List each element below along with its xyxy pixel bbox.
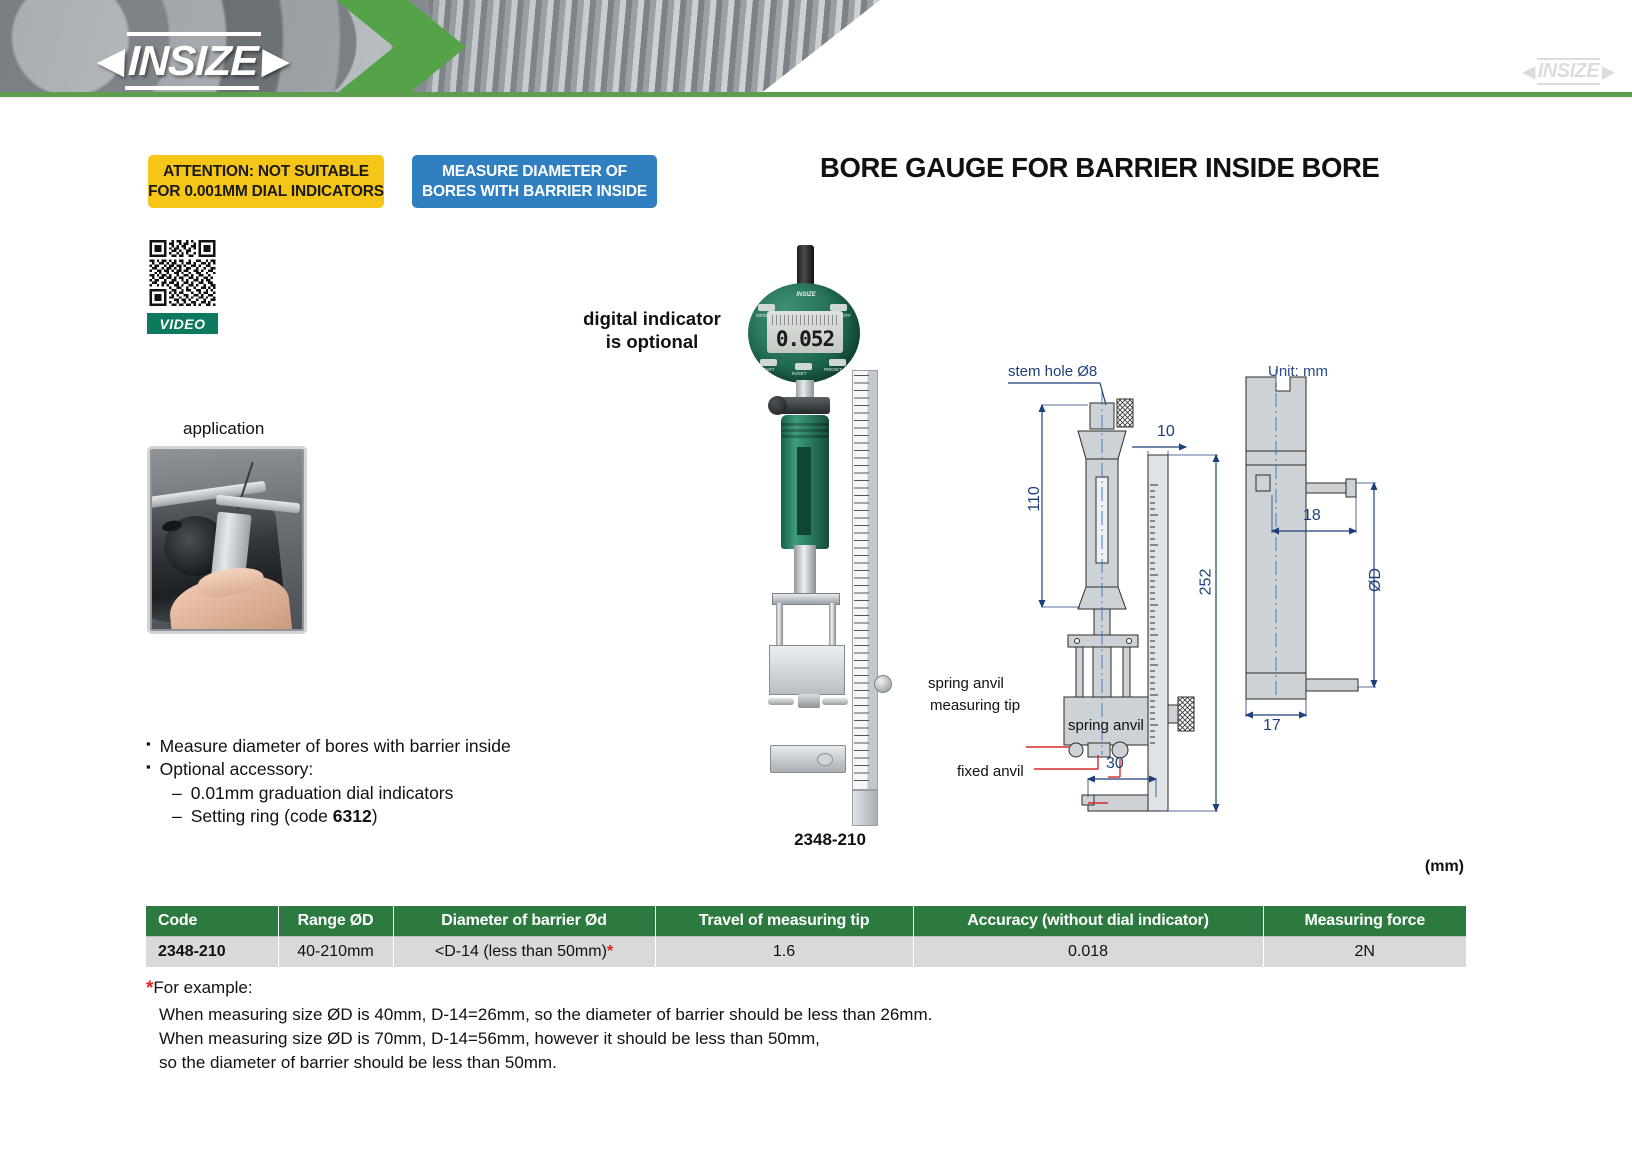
grip-ring <box>781 429 829 432</box>
stem-clamp-knob[interactable] <box>768 396 787 415</box>
indicator-button-start[interactable] <box>760 359 777 366</box>
footnote-line-3: so the diameter of barrier should be les… <box>146 1051 1246 1075</box>
dash-icon: – <box>172 782 182 805</box>
foot-hole <box>817 753 833 766</box>
measuring-head-block <box>769 645 845 695</box>
feature-subitem-2: – Setting ring (code 6312) <box>146 805 666 828</box>
grip-product-label <box>797 447 811 535</box>
dim-10-label: 10 <box>1157 423 1175 441</box>
measuring-tip <box>798 694 820 708</box>
technical-drawing: stem hole Ø8 110 10 252 30 18 ØD 17 spri… <box>960 355 1390 825</box>
spring-anvil-left <box>768 698 794 705</box>
application-photo-inner <box>152 451 302 629</box>
product-code-caption: 2348-210 <box>740 830 920 850</box>
table-row: 2348-210 40-210mm <D-14 (less than 50mm)… <box>146 937 1466 968</box>
fixed-anvil-foot <box>770 745 846 773</box>
table-unit-note: (mm) <box>1425 858 1464 876</box>
indicator-key-preset-label: PRESET <box>824 367 842 372</box>
table-header-row: Code Range ØD Diameter of barrier Ød Tra… <box>146 906 1466 937</box>
bullet-square-icon: ▪ <box>146 758 151 777</box>
cell-accuracy: 0.018 <box>913 937 1263 968</box>
watermark-arrow-right-icon: ▶ <box>1602 62 1614 82</box>
watermark-wordmark: INSIZE <box>1537 58 1600 85</box>
attention-badge-line1: ATTENTION: NOT SUITABLE <box>163 162 369 181</box>
footnote-lead-line: *For example: <box>146 976 1246 1003</box>
anvil-group <box>772 692 844 718</box>
datasheet-page: ◀ INSIZE ▶ ◀ INSIZE ▶ ATTENTION: NOT SUI… <box>0 0 1632 1155</box>
fixed-anvil-label: fixed anvil <box>957 763 1024 780</box>
logo-arrow-right-icon: ▶ <box>262 44 288 78</box>
table-header-code: Code <box>146 906 278 937</box>
cell-range: 40-210mm <box>278 937 393 968</box>
dim-30-label: 30 <box>1106 755 1124 773</box>
feature-subitem-1: – 0.01mm graduation dial indicators <box>146 782 666 805</box>
table-header-range: Range ØD <box>278 906 393 937</box>
dim-od-label: ØD <box>1367 568 1385 592</box>
column-base-rail <box>852 790 878 826</box>
column-scale-ticks <box>854 375 869 787</box>
dim-18-label: 18 <box>1303 507 1321 525</box>
stem-hole-label: stem hole Ø8 <box>1008 363 1097 380</box>
digital-indicator-head: INSIZE ORIGIN/ZERO ON/OFF START IN/SET P… <box>748 283 860 383</box>
table-header-travel: Travel of measuring tip <box>655 906 913 937</box>
grip-ring <box>781 423 829 426</box>
lcd-analog-bargraph <box>772 315 838 325</box>
cell-barrier-text: <D-14 (less than 50mm) <box>435 943 607 960</box>
logo-arrow-left-icon: ◀ <box>97 44 123 78</box>
indicator-button-inset[interactable] <box>795 363 812 370</box>
insize-watermark-logo: ◀ INSIZE ▶ <box>1523 58 1614 85</box>
indicator-button-origin[interactable] <box>758 304 775 311</box>
measure-badge-line2: BORES WITH BARRIER INSIDE <box>422 182 647 201</box>
indicator-brand-label: INSIZE <box>780 292 832 300</box>
dim-17-label: 17 <box>1263 717 1281 735</box>
footnote-block: *For example: When measuring size ØD is … <box>146 976 1246 1075</box>
measuring-tip-label: measuring tip <box>930 697 1020 714</box>
cell-travel: 1.6 <box>655 937 913 968</box>
spring-anvil-right <box>822 698 848 705</box>
feature-subitem-2-label: Setting ring (code 6312) <box>191 805 378 828</box>
digital-indicator-note: digital indicator is optional <box>572 307 732 353</box>
application-photo <box>147 446 307 634</box>
lcd-reading-value: 0.052 <box>776 329 834 353</box>
table-header-accuracy: Accuracy (without dial indicator) <box>913 906 1263 937</box>
guide-post <box>829 603 836 647</box>
dim-252-label: 252 <box>1197 569 1215 596</box>
table-header-barrier: Diameter of barrier Ød <box>393 906 655 937</box>
digital-note-line2: is optional <box>572 330 732 353</box>
spring-anvil-label-2: spring anvil <box>1068 717 1144 734</box>
setting-ring-suffix: ) <box>372 806 378 826</box>
table-header-force: Measuring force <box>1263 906 1466 937</box>
footnote-lead: For example: <box>153 978 252 997</box>
logo-wordmark: INSIZE <box>125 32 260 90</box>
cell-barrier-asterisk: * <box>607 943 613 960</box>
feature-item-2: ▪ Optional accessory: <box>146 758 666 781</box>
video-qr-block[interactable]: VIDEO <box>147 233 218 334</box>
feature-subitem-1-label: 0.01mm graduation dial indicators <box>191 782 454 805</box>
grip-ring <box>781 435 829 438</box>
qr-code-icon[interactable] <box>147 233 218 313</box>
indicator-key-start-label: START <box>760 367 774 372</box>
video-badge-label[interactable]: VIDEO <box>147 313 218 334</box>
specification-table: Code Range ØD Diameter of barrier Ød Tra… <box>146 906 1466 967</box>
application-label: application <box>183 419 264 439</box>
feature-item-2-label: Optional accessory: <box>160 758 314 781</box>
dim-110-label: 110 <box>1026 486 1044 512</box>
page-title: BORE GAUGE FOR BARRIER INSIDE BORE <box>820 152 1520 184</box>
footnote-line-1: When measuring size ØD is 40mm, D-14=26m… <box>146 1003 1246 1027</box>
indicator-button-preset[interactable] <box>829 359 846 366</box>
indicator-lcd-screen: 0.052 <box>767 311 843 353</box>
product-photo: INSIZE ORIGIN/ZERO ON/OFF START IN/SET P… <box>740 245 920 805</box>
bullet-square-icon: ▪ <box>146 735 151 754</box>
spring-anvil-label-1: spring anvil <box>928 675 1004 692</box>
dash-icon: – <box>172 805 182 828</box>
page-header: ◀ INSIZE ▶ ◀ INSIZE ▶ <box>0 0 1632 97</box>
watermark-arrow-left-icon: ◀ <box>1523 62 1535 82</box>
setting-ring-prefix: Setting ring (code <box>191 806 333 826</box>
column-lock-knob[interactable] <box>874 675 892 693</box>
drawing-svg <box>960 355 1390 825</box>
guide-post <box>776 603 783 647</box>
indicator-key-inset-label: IN/SET <box>792 371 807 376</box>
cell-force: 2N <box>1263 937 1466 968</box>
feature-list: ▪ Measure diameter of bores with barrier… <box>146 735 666 829</box>
measure-badge-line1: MEASURE DIAMETER OF <box>442 162 627 181</box>
feature-item-1-label: Measure diameter of bores with barrier i… <box>160 735 511 758</box>
header-shadow-divider <box>0 97 1632 99</box>
cell-code: 2348-210 <box>146 937 278 968</box>
attention-badge-line2: FOR 0.001MM DIAL INDICATORS <box>148 182 384 201</box>
footnote-line-2: When measuring size ØD is 70mm, D-14=56m… <box>146 1027 1246 1051</box>
measure-badge: MEASURE DIAMETER OF BORES WITH BARRIER I… <box>412 155 657 208</box>
attention-badge: ATTENTION: NOT SUITABLE FOR 0.001MM DIAL… <box>148 155 384 208</box>
indicator-button-onoff[interactable] <box>830 304 847 311</box>
cell-barrier: <D-14 (less than 50mm)* <box>393 937 655 968</box>
insize-logo: ◀ INSIZE ▶ <box>97 32 289 90</box>
gauge-handle-grip <box>781 415 829 549</box>
feature-item-1: ▪ Measure diameter of bores with barrier… <box>146 735 666 758</box>
digital-note-line1: digital indicator <box>572 307 732 330</box>
column-scale <box>852 370 878 790</box>
setting-ring-code: 6312 <box>333 806 372 826</box>
guide-post-group <box>776 603 836 647</box>
